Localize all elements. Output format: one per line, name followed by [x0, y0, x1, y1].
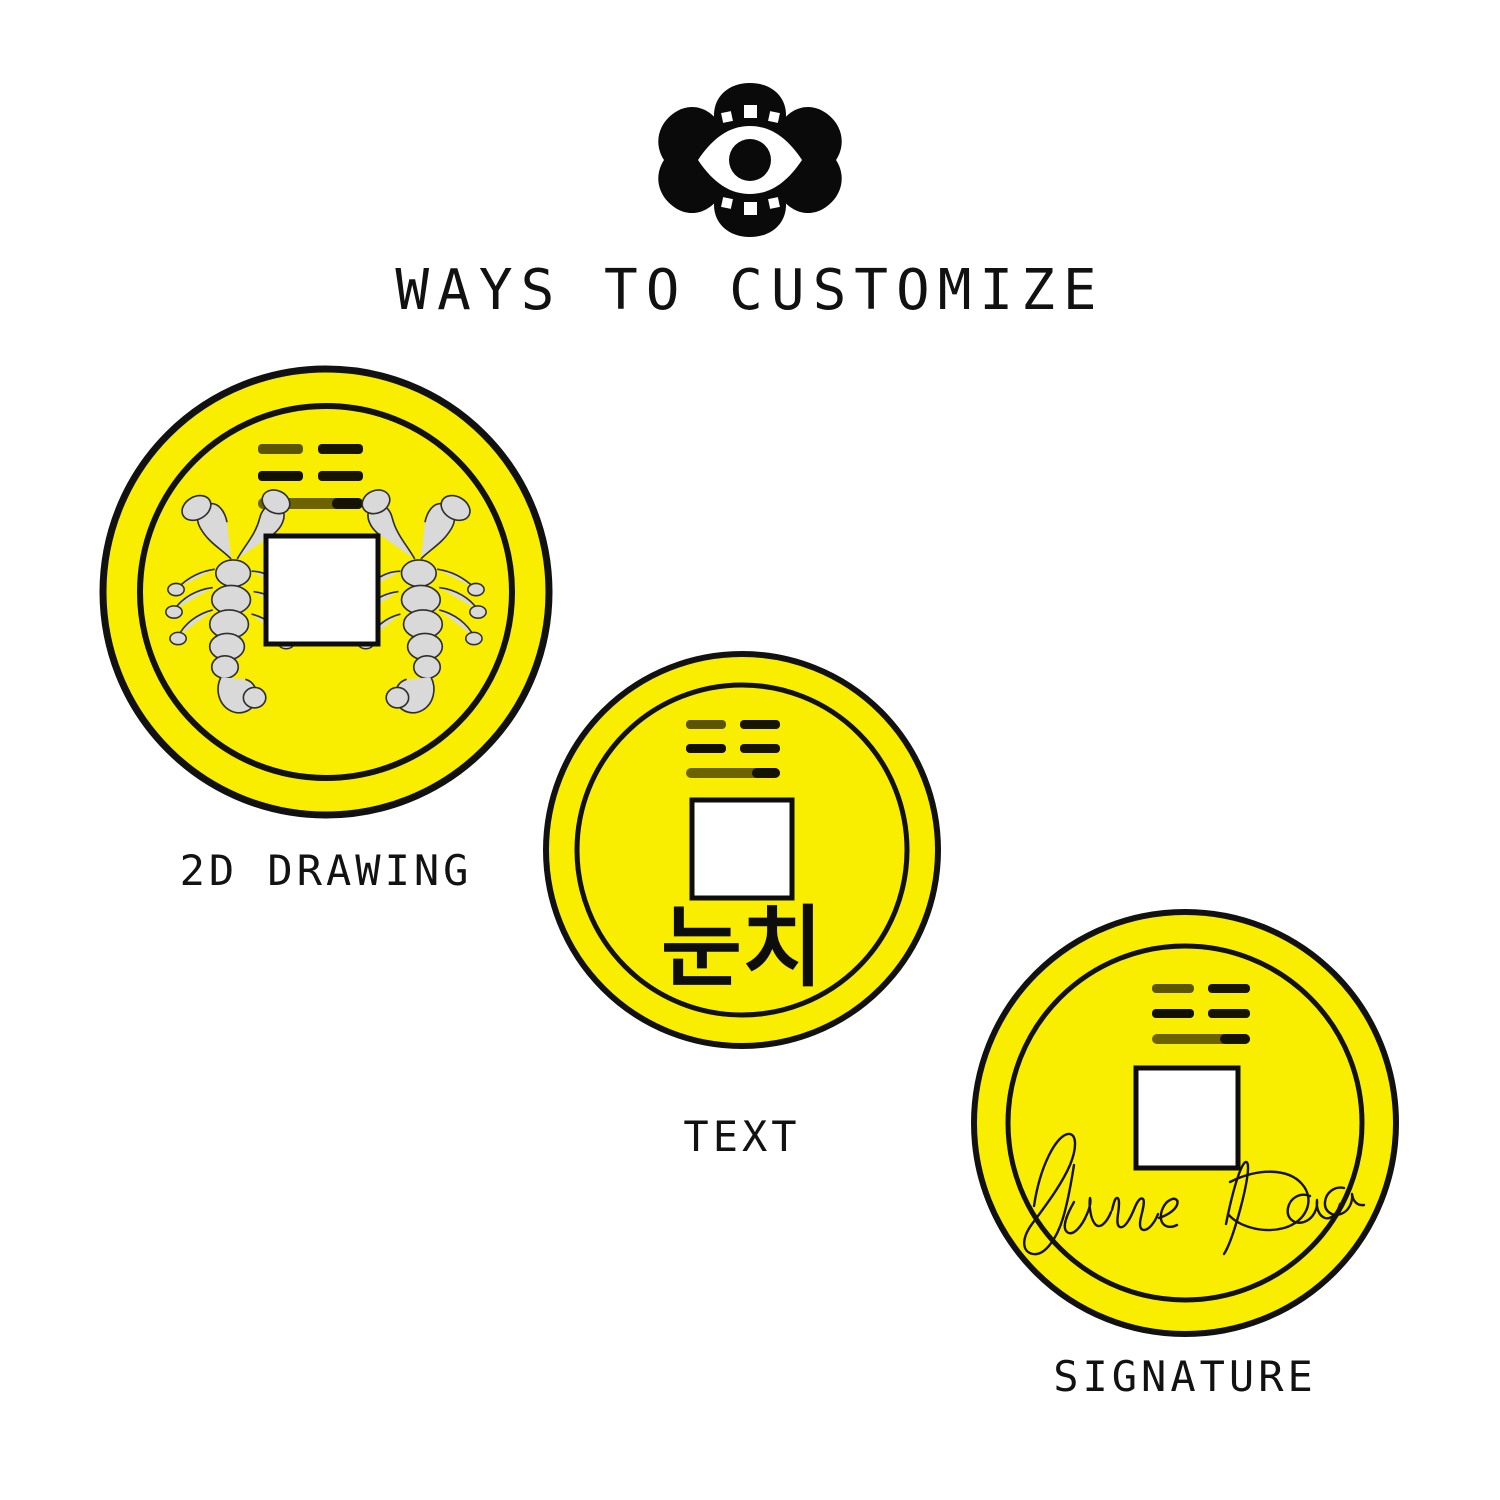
- coin-card-2d-drawing[interactable]: [96, 362, 556, 822]
- coin-label-signature: SIGNATURE: [968, 1352, 1402, 1401]
- flower-eye-logo: [650, 75, 850, 245]
- page-title: WAYS TO CUSTOMIZE: [0, 258, 1500, 323]
- korean-text-artwork: 눈치: [661, 896, 823, 999]
- coin-label-text: TEXT: [540, 1112, 944, 1161]
- coin-card-text[interactable]: 눈치: [540, 648, 944, 1052]
- coin-label-2d-drawing: 2D DRAWING: [96, 846, 556, 895]
- coin-card-signature[interactable]: [968, 906, 1402, 1340]
- coin-square-hole: [1136, 1068, 1238, 1168]
- coin-square-hole: [266, 536, 378, 644]
- coin-square-hole: [692, 800, 792, 898]
